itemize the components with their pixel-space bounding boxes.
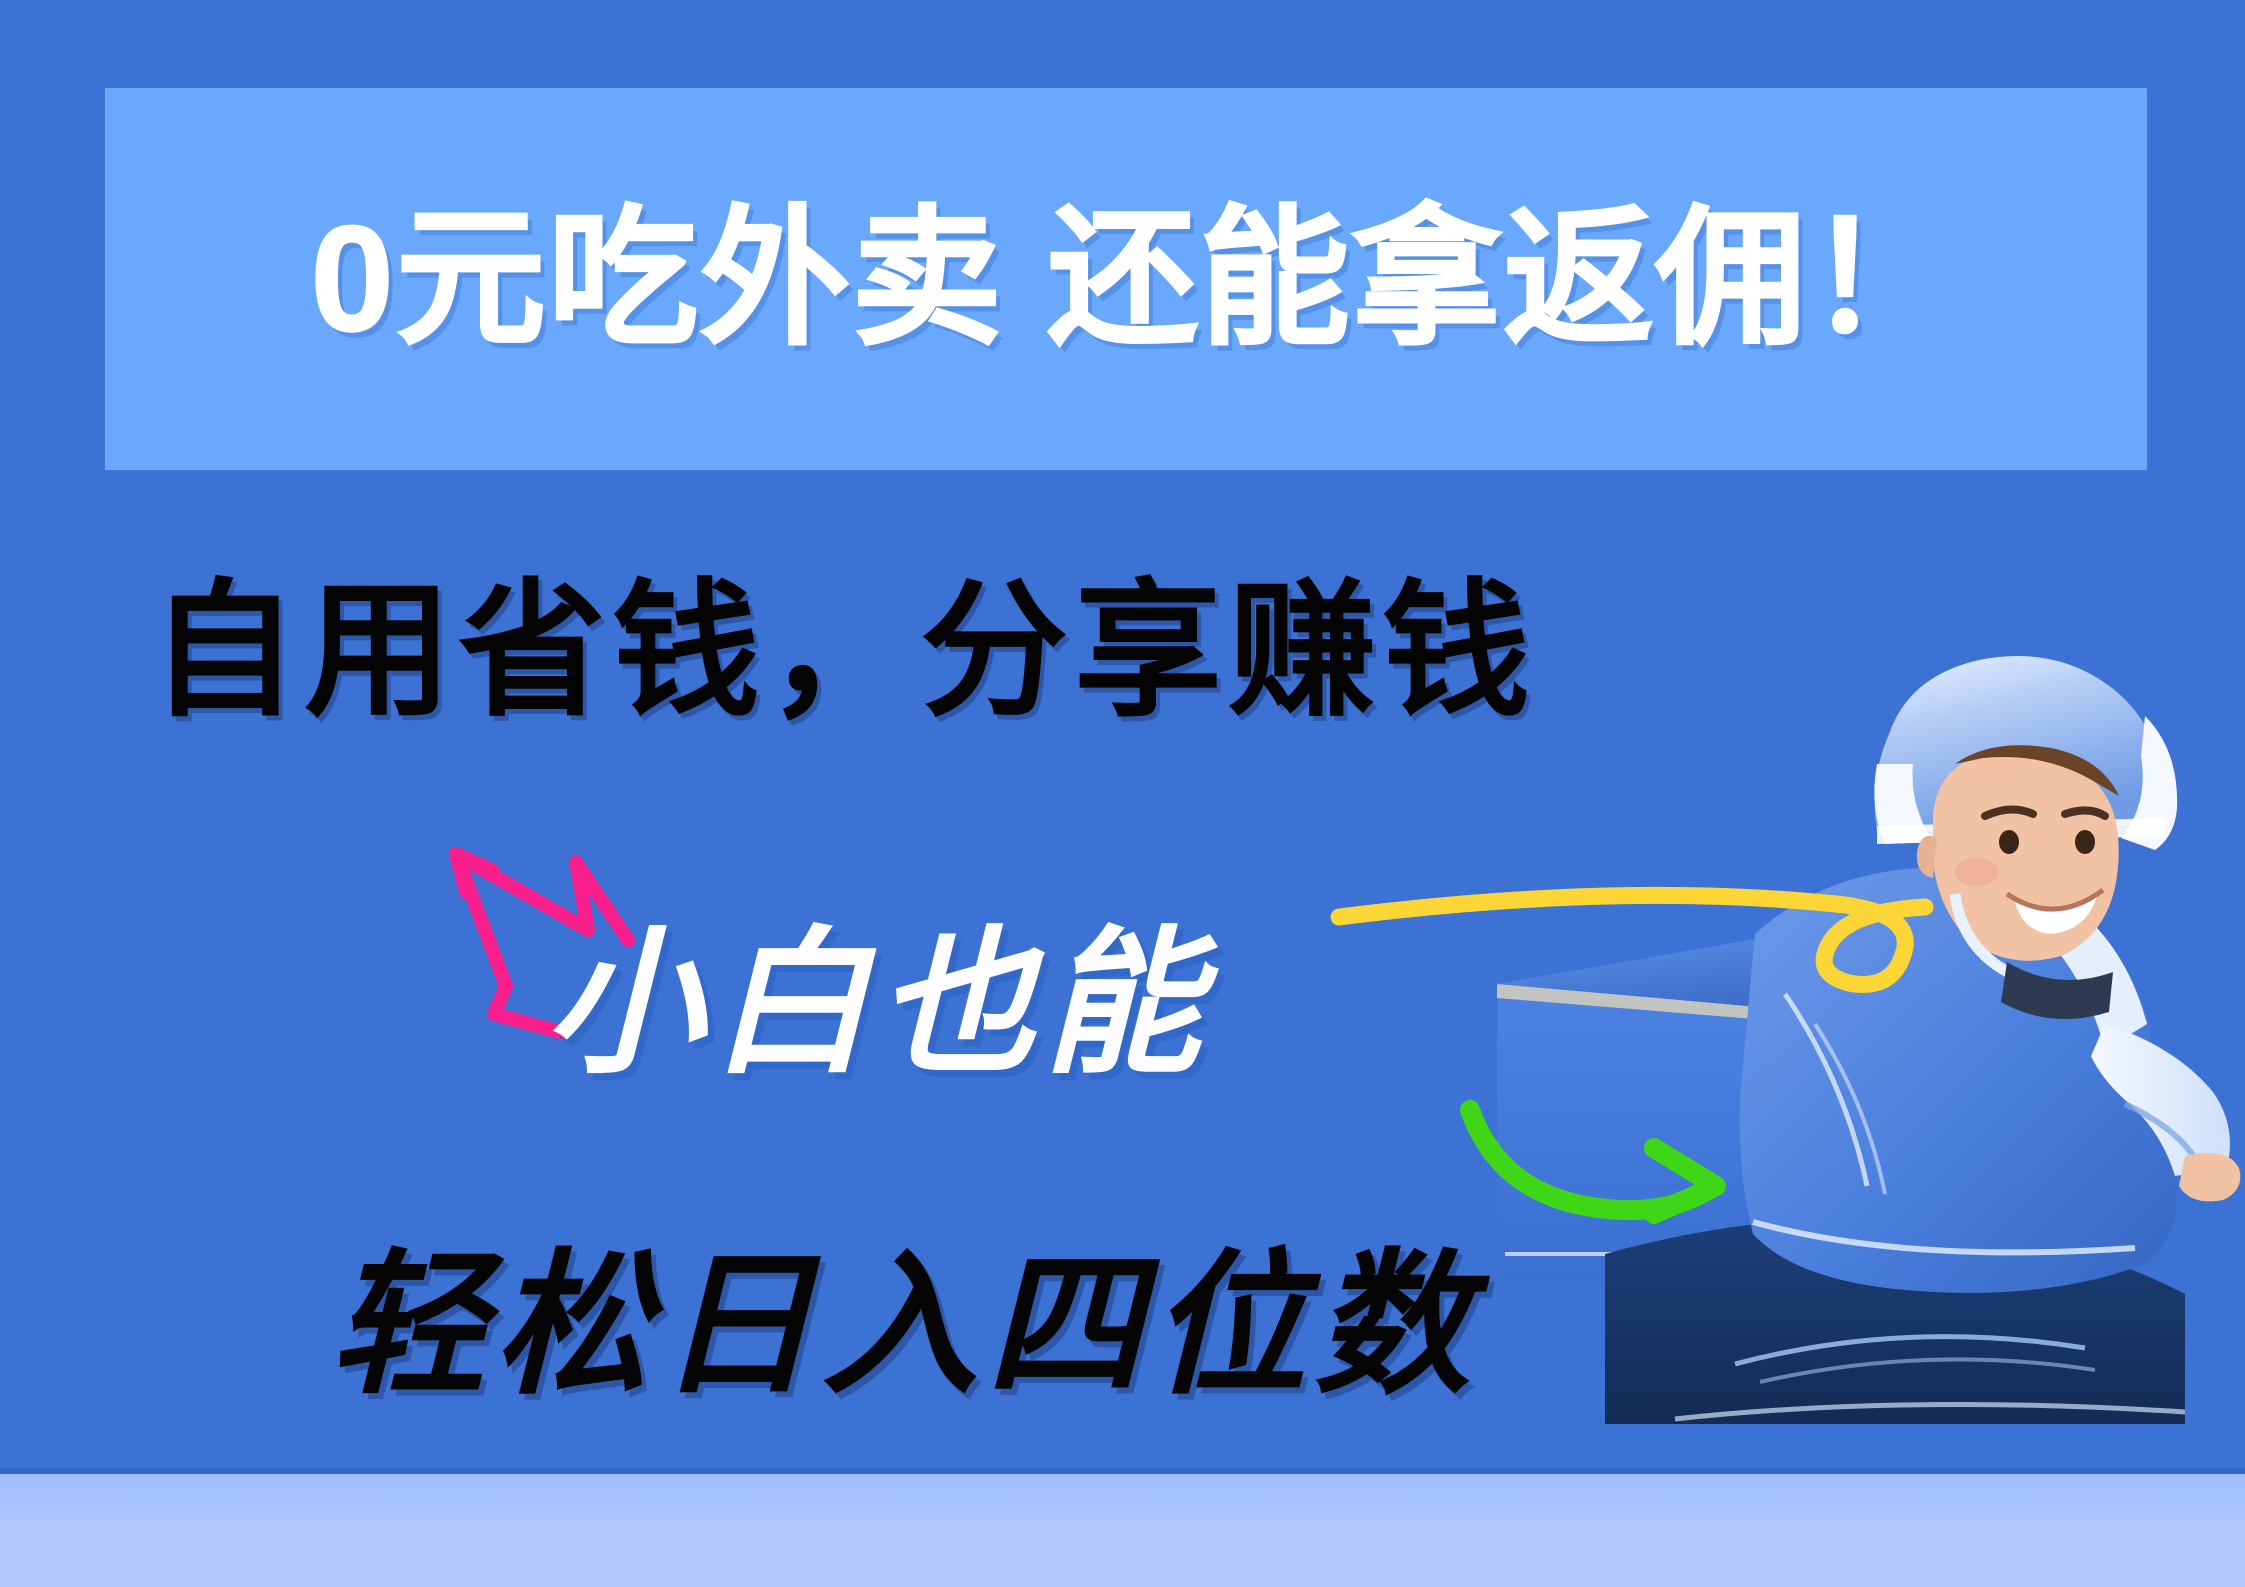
headline-band: 0元吃外卖 还能拿返佣！ bbox=[105, 88, 2147, 470]
bottom-strip bbox=[0, 1474, 2245, 1587]
tagline-line-3: 轻松日入四位数 bbox=[330, 1248, 1478, 1404]
headline-text: 0元吃外卖 还能拿返佣！ bbox=[105, 200, 2147, 358]
tagline-line-2: 小白也能 bbox=[545, 925, 1209, 1083]
tagline-line-1: 自用省钱，分享赚钱 bbox=[150, 578, 2030, 726]
promo-poster: 0元吃外卖 还能拿返佣！ 自用省钱，分享赚钱 小白也能 轻松日入四位数 bbox=[0, 0, 2245, 1587]
